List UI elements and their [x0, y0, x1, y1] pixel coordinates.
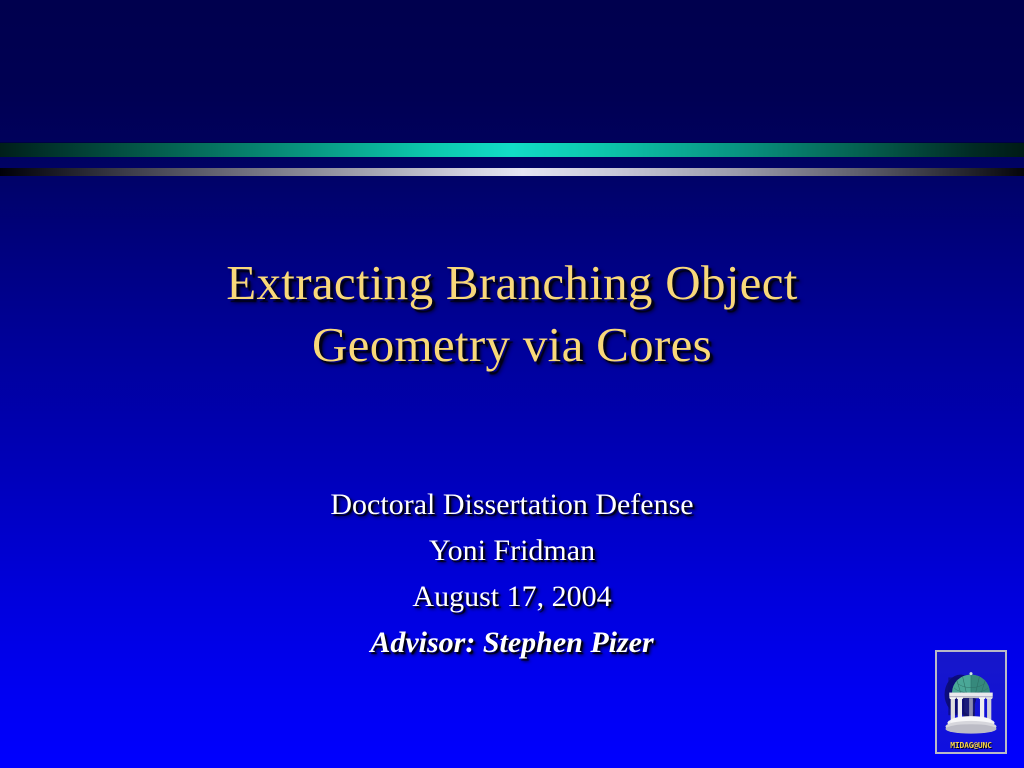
title-line-2: Geometry via Cores [112, 314, 912, 376]
title-line-1: Extracting Branching Object [112, 252, 912, 314]
subtitle-line-event: Doctoral Dissertation Defense [172, 482, 852, 528]
subtitle-line-date: August 17, 2004 [172, 574, 852, 620]
slide-subtitle: Doctoral Dissertation Defense Yoni Fridm… [172, 482, 852, 666]
teal-divider-bar [0, 143, 1024, 157]
slide-title: Extracting Branching Object Geometry via… [112, 252, 912, 376]
old-well-icon [937, 652, 1005, 752]
midag-unc-logo: MIDAG@UNC [935, 650, 1007, 754]
subtitle-line-author: Yoni Fridman [172, 528, 852, 574]
logo-caption: MIDAG@UNC [937, 741, 1005, 750]
white-divider-bar [0, 168, 1024, 176]
title-slide: Extracting Branching Object Geometry via… [0, 0, 1024, 768]
subtitle-line-advisor: Advisor: Stephen Pizer [172, 620, 852, 666]
